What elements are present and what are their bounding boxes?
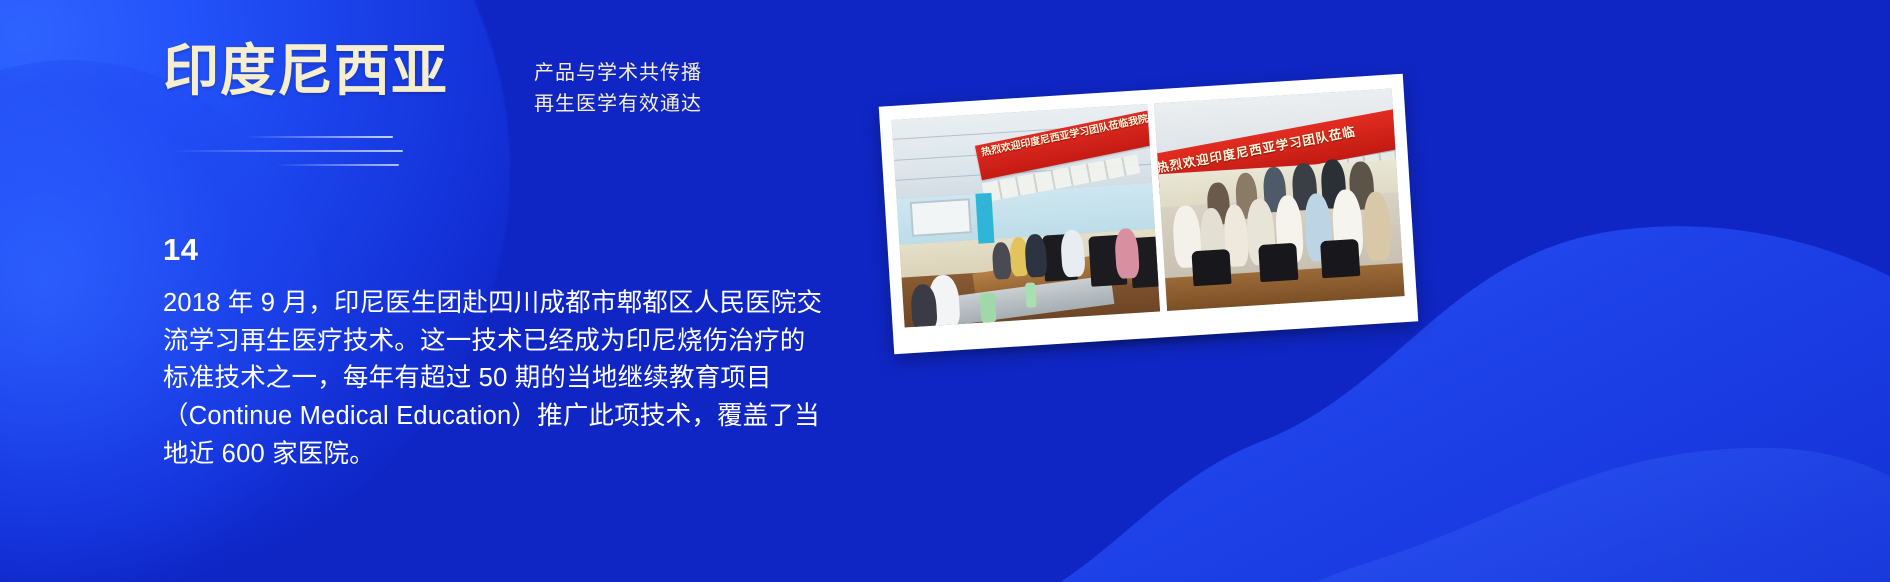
- photo-collage: 热烈欢迎印度尼西亚学习团队莅临我院: [879, 74, 1419, 354]
- water-bottle: [979, 293, 996, 323]
- item-number: 14: [163, 234, 863, 265]
- body-paragraph: 2018 年 9 月，印尼医生团赴四川成都市郫都区人民医院交 流学习再生医疗技术…: [163, 285, 863, 474]
- paragraph-line: 2018 年 9 月，印尼医生团赴四川成都市郫都区人民医院交: [163, 285, 863, 323]
- decorative-underline-lines: [163, 130, 563, 186]
- projection-screen: [910, 198, 972, 237]
- blue-pillar: [976, 193, 994, 244]
- paragraph-line: 地近 600 家医院。: [163, 436, 863, 474]
- title-row: 印度尼西亚 产品与学术共传播 再生医学有效通达: [163, 42, 863, 120]
- subtitle-line-2: 再生医学有效通达: [534, 89, 702, 120]
- left-content-column: 印度尼西亚 产品与学术共传播 再生医学有效通达 14 2018 年 9 月，印尼…: [163, 42, 863, 474]
- bottom-right-wave-shape-secondary: [1030, 362, 1890, 582]
- paragraph-line: 流学习再生医疗技术。这一技术已经成为印尼烧伤治疗的: [163, 323, 863, 361]
- subtitle-line-1: 产品与学术共传播: [534, 58, 702, 89]
- decorative-line-3: [275, 164, 399, 166]
- decorative-line-2: [173, 150, 403, 152]
- slide-canvas: 印度尼西亚 产品与学术共传播 再生医学有效通达 14 2018 年 9 月，印尼…: [0, 0, 1890, 582]
- paragraph-line: （Continue Medical Education）推广此项技术，覆盖了当: [163, 398, 863, 436]
- photo-group-delegation: 热烈欢迎印度尼西亚学习团队莅临: [1154, 88, 1405, 311]
- photo-conference-room: 热烈欢迎印度尼西亚学习团队莅临我院: [892, 104, 1160, 328]
- office-chair: [1192, 249, 1232, 287]
- office-chair: [1320, 239, 1360, 279]
- water-bottle: [1025, 282, 1037, 308]
- paragraph-line: 标准技术之一，每年有超过 50 期的当地继续教育项目: [163, 360, 863, 398]
- office-chair: [1258, 242, 1298, 282]
- photo-inner: 热烈欢迎印度尼西亚学习团队莅临我院: [892, 88, 1405, 327]
- photo-white-frame: 热烈欢迎印度尼西亚学习团队莅临我院: [879, 74, 1419, 354]
- decorative-line-1: [245, 136, 393, 138]
- page-title: 印度尼西亚: [163, 42, 448, 101]
- subtitle-block: 产品与学术共传播 再生医学有效通达: [534, 58, 702, 120]
